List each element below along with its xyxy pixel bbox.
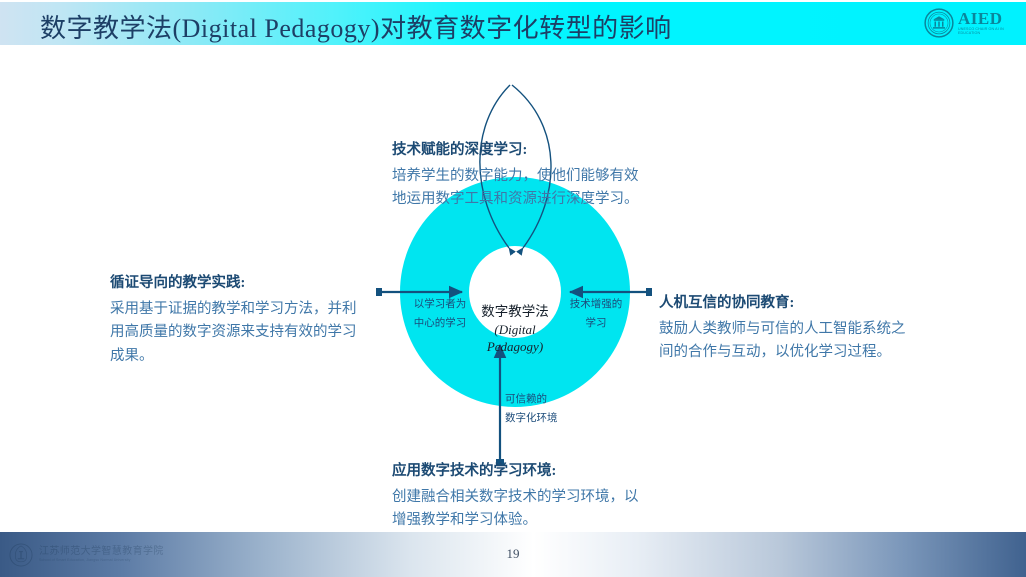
- callout-right-line1: 鼓励人类教师与可信的人工智能系统之: [659, 318, 937, 341]
- slide-footer-band: 江苏师范大学智慧教育学院 School of Smart Education, …: [0, 532, 1026, 577]
- circular-seal-icon: [924, 8, 954, 38]
- ring-label-bottom: 可信赖的 数字化环境: [505, 390, 577, 429]
- ring-label-bottom-line2: 数字化环境: [505, 409, 577, 428]
- callout-bottom: 应用数字技术的学习环境: 创建融合相关数字技术的学习环境，以 增强教学和学习体验…: [392, 461, 664, 533]
- page-title: 数字教学法(Digital Pedagogy)对教育数字化转型的影响: [40, 8, 672, 45]
- callout-top-line2: 地运用数字工具和资源进行深度学习。: [392, 188, 664, 211]
- callout-top: 技术赋能的深度学习: 培养学生的数字能力，使他们能够有效 地运用数字工具和资源进…: [392, 140, 664, 212]
- slide-content-area: 以学习者为 中心的学习 技术增强的 学习 可信赖的 数字化环境 数字教学法 (D…: [0, 45, 1026, 532]
- aied-tagline: UNESCO CHAIR ON AI IN EDUCATION: [958, 28, 1010, 35]
- callout-left: 循证导向的教学实践: 采用基于证据的教学和学习方法，并利 用高质量的数字资源来支…: [110, 273, 382, 368]
- diagram-center-label: 数字教学法 (Digital Pedagogy): [462, 303, 568, 355]
- callout-bottom-line1: 创建融合相关数字技术的学习环境，以: [392, 486, 664, 509]
- ring-label-right-line1: 技术增强的: [561, 295, 631, 314]
- callout-left-line2: 用高质量的数字资源来支持有效的学习: [110, 321, 382, 344]
- page-number: 19: [0, 546, 1026, 562]
- center-label-cn: 数字教学法: [462, 303, 568, 321]
- callout-bottom-title: 应用数字技术的学习环境:: [392, 461, 664, 483]
- ring-label-bottom-line1: 可信赖的: [505, 390, 577, 409]
- callout-top-title: 技术赋能的深度学习:: [392, 140, 664, 162]
- center-label-en-2: Pedagogy): [462, 338, 568, 355]
- aied-logo: AIED UNESCO CHAIR ON AI IN EDUCATION: [924, 6, 1010, 39]
- callout-top-line1: 培养学生的数字能力，使他们能够有效: [392, 165, 664, 188]
- callout-left-line1: 采用基于证据的教学和学习方法，并利: [110, 298, 382, 321]
- callout-left-line3: 成果。: [110, 345, 382, 368]
- aied-wordmark: AIED: [958, 10, 1010, 27]
- callout-right-title: 人机互信的协同教育:: [659, 293, 937, 315]
- callout-right: 人机互信的协同教育: 鼓励人类教师与可信的人工智能系统之 间的合作与互动，以优化…: [659, 293, 937, 365]
- center-label-en-1: (Digital: [462, 321, 568, 338]
- ring-label-right-line2: 学习: [561, 314, 631, 333]
- callout-left-title: 循证导向的教学实践:: [110, 273, 382, 295]
- callout-right-line2: 间的合作与互动，以优化学习过程。: [659, 341, 937, 364]
- ring-label-right: 技术增强的 学习: [561, 295, 631, 334]
- callout-bottom-line2: 增强教学和学习体验。: [392, 509, 664, 532]
